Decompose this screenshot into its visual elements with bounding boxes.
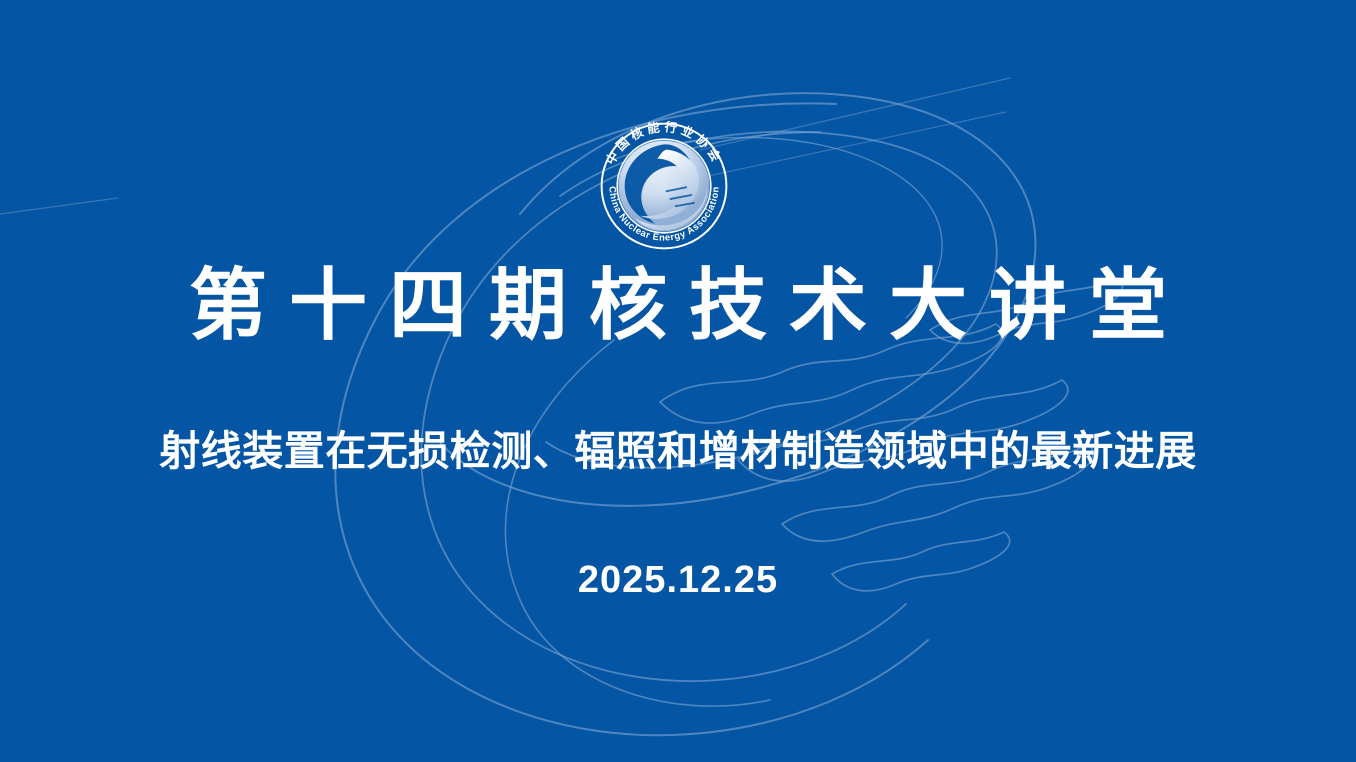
china-nuclear-energy-association-logo: 中国核能行业协会 China Nuclear Energy Associatio… <box>599 121 729 251</box>
comet-tail-left <box>0 198 118 214</box>
comet-tail-lower <box>708 112 1006 176</box>
comet-tail-upper <box>700 78 1010 150</box>
page-title: 第十四期核技术大讲堂 <box>0 256 1356 354</box>
event-date: 2025.12.25 <box>0 556 1356 604</box>
comet-tail-lines <box>0 78 1010 214</box>
page-subtitle: 射线装置在无损检测、辐照和增材制造领域中的最新进展 <box>0 423 1356 479</box>
background-decoration <box>0 0 1356 762</box>
c-swirl-tail <box>505 340 770 706</box>
presentation-title-slide: 中国核能行业协会 China Nuclear Energy Associatio… <box>0 0 1356 762</box>
